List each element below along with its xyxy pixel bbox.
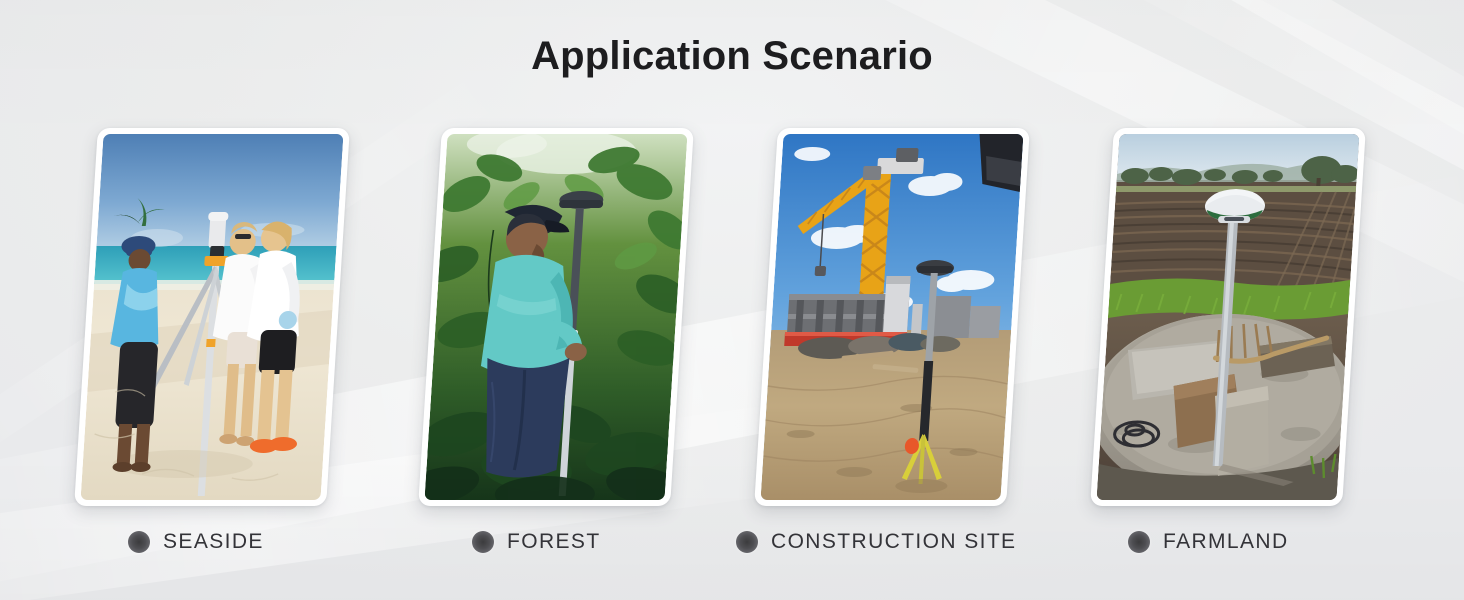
page-title: Application Scenario	[0, 34, 1464, 79]
scenario-card-construction-site[interactable]	[766, 128, 1018, 508]
photo-construction-site	[760, 134, 1023, 500]
dot-icon	[128, 531, 150, 553]
photo-seaside	[80, 134, 343, 500]
scenario-card-forest[interactable]	[430, 128, 682, 508]
scenario-card-row	[0, 0, 1464, 600]
caption-label: FARMLAND	[1163, 530, 1289, 554]
caption-farmland: FARMLAND	[1128, 530, 1289, 554]
photo-card[interactable]	[74, 128, 350, 506]
scenario-card-farmland[interactable]	[1102, 128, 1354, 508]
caption-label: FOREST	[507, 530, 601, 554]
caption-label: CONSTRUCTION SITE	[771, 530, 1016, 554]
scenario-card-seaside[interactable]	[86, 128, 338, 508]
caption-seaside: SEASIDE	[128, 530, 264, 554]
caption-construction-site: CONSTRUCTION SITE	[736, 530, 1016, 554]
photo-card[interactable]	[754, 128, 1030, 506]
dot-icon	[1128, 531, 1150, 553]
photo-forest	[424, 134, 687, 500]
photo-card[interactable]	[418, 128, 694, 506]
dot-icon	[472, 531, 494, 553]
photo-card[interactable]	[1090, 128, 1366, 506]
caption-forest: FOREST	[472, 530, 601, 554]
dot-icon	[736, 531, 758, 553]
photo-farmland	[1096, 134, 1359, 500]
caption-label: SEASIDE	[163, 530, 264, 554]
